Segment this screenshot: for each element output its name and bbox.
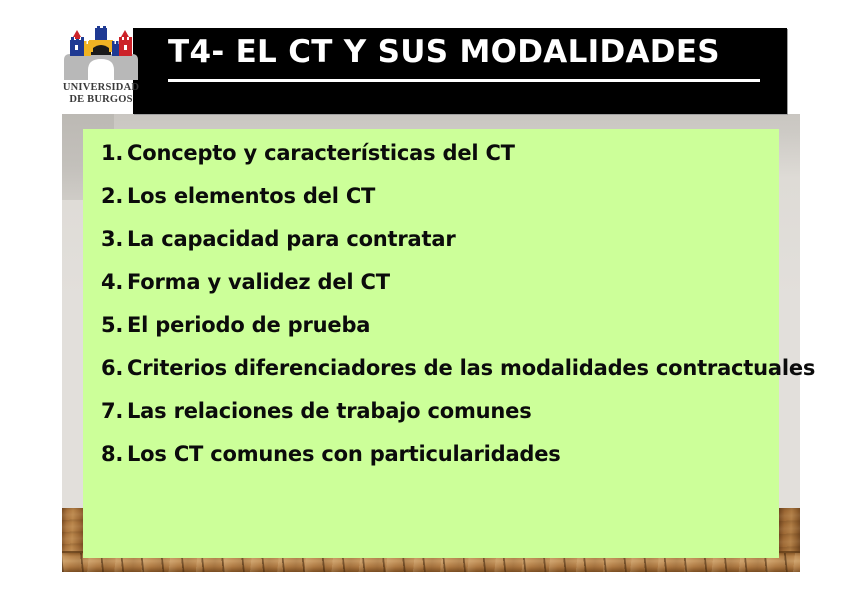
list-item-label: Los CT comunes con particularidades [127,444,561,465]
list-item: 4. Forma y validez del CT [101,272,761,315]
list-item-label: Forma y validez del CT [127,272,390,293]
title-underline [168,79,760,82]
list-item-label: El periodo de prueba [127,315,370,336]
list-item-number: 8. [101,444,127,465]
content-panel: 1. Concepto y características del CT 2. … [83,129,779,558]
university-of-burgos-crest-icon [62,26,140,82]
list-item-number: 5. [101,315,127,336]
list-item-number: 4. [101,272,127,293]
list-item: 3. La capacidad para contratar [101,229,761,272]
list-item: 2. Los elementos del CT [101,186,761,229]
list-item: 6. Criterios diferenciadores de las moda… [101,358,761,401]
list-item: 8. Los CT comunes con particularidades [101,444,761,487]
list-item-number: 2. [101,186,127,207]
university-logo-name-line2: DE BURGOS [58,94,144,106]
university-logo: UNIVERSIDAD DE BURGOS [58,26,144,112]
list-item-label: Las relaciones de trabajo comunes [127,401,532,422]
list-item-number: 7. [101,401,127,422]
table-of-contents-list: 1. Concepto y características del CT 2. … [101,143,761,487]
list-item-label: Los elementos del CT [127,186,375,207]
university-logo-name: UNIVERSIDAD DE BURGOS [58,82,144,106]
presentation-slide: 1. Concepto y características del CT 2. … [0,0,848,599]
list-item: 5. El periodo de prueba [101,315,761,358]
list-item: 7. Las relaciones de trabajo comunes [101,401,761,444]
university-logo-name-line1: UNIVERSIDAD [58,82,144,94]
list-item-number: 1. [101,143,127,164]
list-item-label: Concepto y características del CT [127,143,515,164]
slide-title-bar: T4- EL CT Y SUS MODALIDADES [133,28,787,114]
list-item-label: Criterios diferenciadores de las modalid… [127,358,815,379]
list-item-label: La capacidad para contratar [127,229,455,250]
page-title: T4- EL CT Y SUS MODALIDADES [168,34,720,70]
list-item-number: 3. [101,229,127,250]
list-item: 1. Concepto y características del CT [101,143,761,186]
list-item-number: 6. [101,358,127,379]
